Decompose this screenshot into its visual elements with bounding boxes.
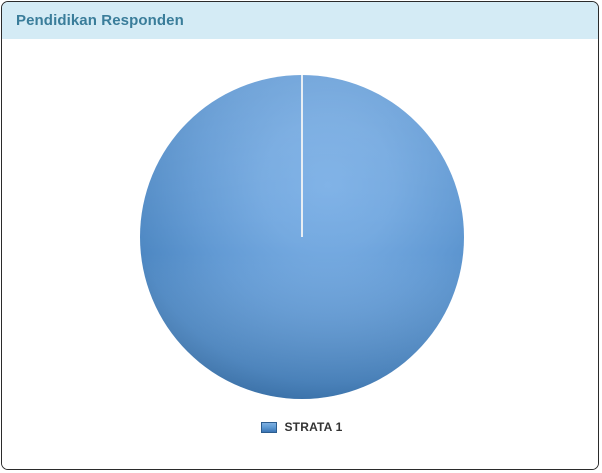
pie-chart	[2, 39, 599, 429]
legend-item-label: STRATA 1	[284, 420, 342, 434]
chart-body: STRATA 1	[2, 39, 598, 470]
page-title: Pendidikan Responden	[16, 12, 184, 29]
legend-swatch-icon	[261, 422, 277, 433]
chart-legend: STRATA 1	[2, 420, 599, 434]
chart-panel: Pendidikan Responden	[1, 1, 599, 470]
legend-item-strata-1[interactable]: STRATA 1	[261, 420, 342, 434]
panel-header: Pendidikan Responden	[2, 2, 598, 39]
pie-chart-svg	[2, 39, 599, 429]
